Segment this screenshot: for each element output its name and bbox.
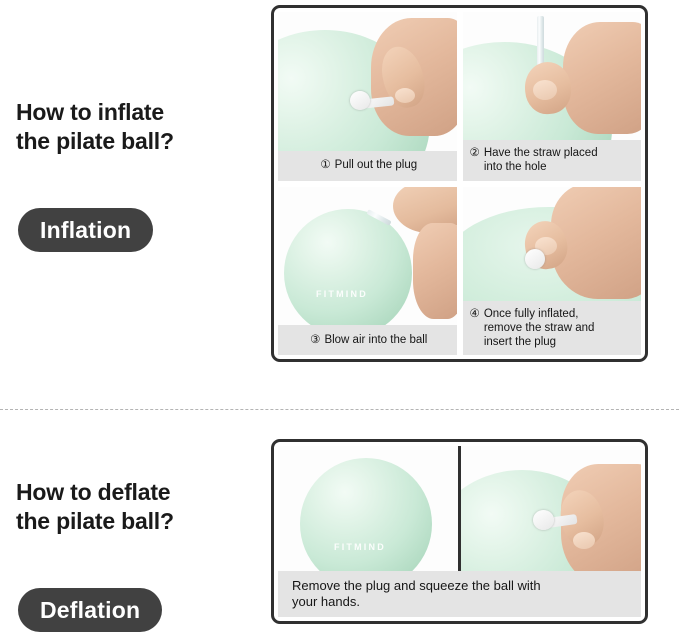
inflation-panel-column: ① Pull out the plug ② Have the straw pla… (265, 0, 679, 409)
step-text-1: Pull out the plug (335, 158, 417, 172)
plug-icon (350, 91, 370, 110)
step-cell-2: ② Have the straw placed into the hole (463, 12, 642, 181)
step-cell-1: ① Pull out the plug (278, 12, 457, 181)
step-photo-4 (463, 187, 642, 301)
step-cell-4: ④ Once fully inflated, remove the straw … (463, 187, 642, 356)
deflation-panel-column: FITMIND Remove the plug and squeeze the … (265, 410, 679, 644)
fingernail-icon (533, 80, 557, 100)
step-number-3: ③ (310, 333, 320, 347)
step-caption-1: ① Pull out the plug (278, 151, 457, 181)
step-text-2: Have the straw placed into the hole (484, 146, 598, 174)
deflation-steps-panel: FITMIND Remove the plug and squeeze the … (271, 439, 648, 624)
plug-icon (533, 510, 554, 530)
fingernail-icon (573, 532, 595, 549)
inflation-badge: Inflation (18, 208, 153, 252)
deflation-photo-left: FITMIND (278, 446, 461, 571)
deflation-heading: How to deflate the pilate ball? (16, 478, 174, 537)
deflation-photo-row: FITMIND (278, 446, 641, 571)
deflation-section: How to deflate the pilate ball? Deflatio… (0, 410, 679, 644)
step-caption-3: ③ Blow air into the ball (278, 325, 457, 355)
inflation-heading: How to inflate the pilate ball? (16, 98, 174, 157)
deflation-cell: FITMIND Remove the plug and squeeze the … (278, 446, 641, 617)
step-cell-3: FITMIND ③ Blow air into the ball (278, 187, 457, 356)
step-number-4: ④ (470, 307, 480, 321)
inflation-steps-panel: ① Pull out the plug ② Have the straw pla… (271, 5, 648, 362)
step-number-2: ② (470, 146, 480, 160)
plug-icon (525, 249, 545, 269)
deflation-text-column: How to deflate the pilate ball? Deflatio… (0, 410, 265, 644)
step-caption-2: ② Have the straw placed into the hole (463, 140, 642, 180)
hand-icon (413, 223, 457, 319)
deflation-caption-text: Remove the plug and squeeze the ball wit… (292, 578, 541, 610)
deflation-photo-right (461, 446, 641, 571)
step-photo-2 (463, 12, 642, 140)
inflation-section: How to inflate the pilate ball? Inflatio… (0, 0, 679, 409)
pilates-ball: FITMIND (300, 458, 432, 571)
step-number-1: ① (320, 158, 330, 172)
step-text-3: Blow air into the ball (324, 333, 427, 347)
brand-logo: FITMIND (334, 542, 386, 552)
deflation-badge: Deflation (18, 588, 162, 632)
deflation-caption: Remove the plug and squeeze the ball wit… (278, 571, 641, 617)
step-text-4: Once fully inflated, remove the straw an… (484, 307, 595, 349)
brand-logo: FITMIND (316, 289, 368, 299)
step-photo-1 (278, 12, 457, 151)
pilates-ball: FITMIND (284, 209, 412, 326)
hand-icon (563, 22, 641, 134)
step-caption-4: ④ Once fully inflated, remove the straw … (463, 301, 642, 355)
inflation-text-column: How to inflate the pilate ball? Inflatio… (0, 0, 265, 409)
step-photo-3: FITMIND (278, 187, 457, 326)
fingernail-icon (395, 88, 415, 103)
